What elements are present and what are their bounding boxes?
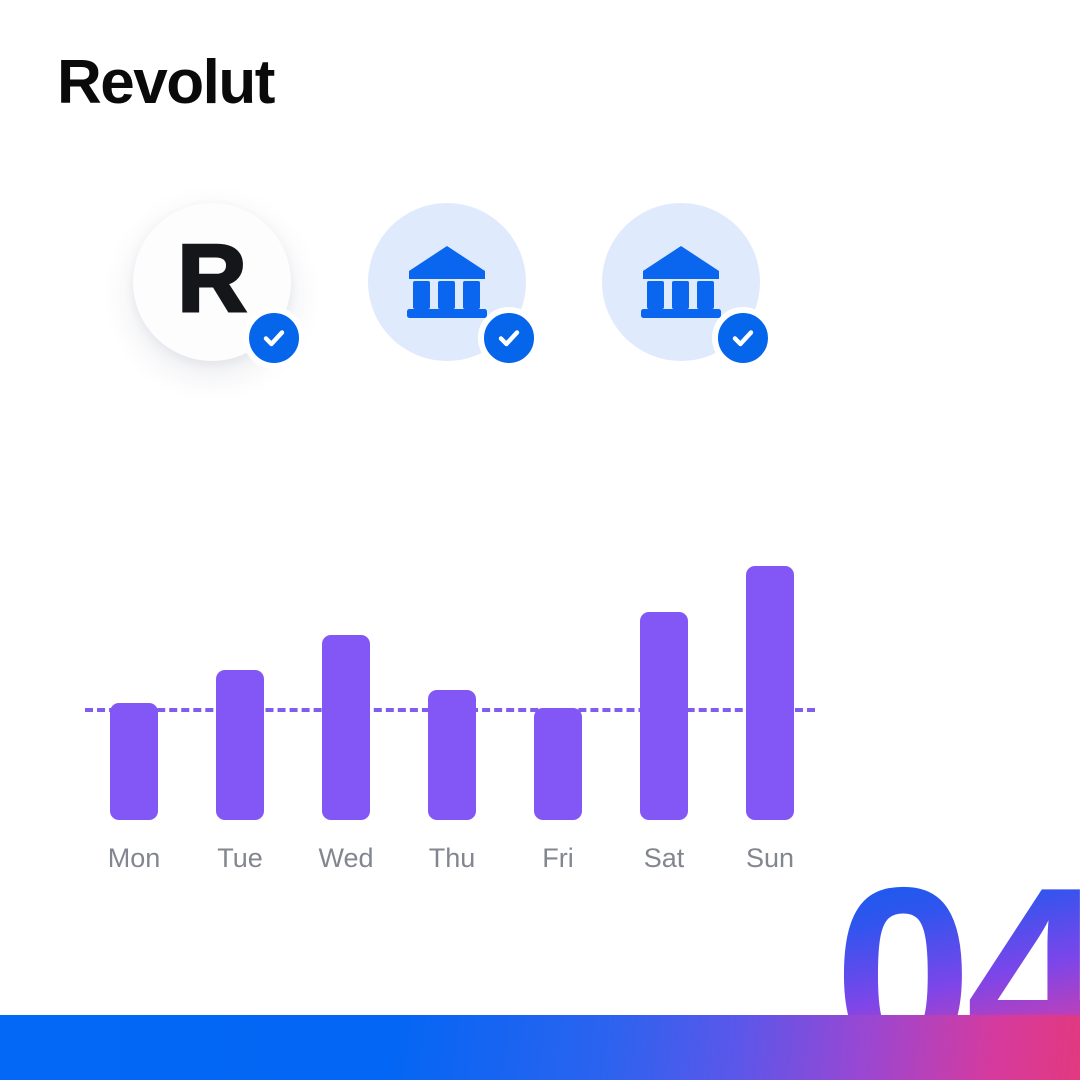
chart-axis-label: Mon	[74, 845, 194, 872]
chart-bar[interactable]	[216, 670, 264, 820]
chart-axis-label: Tue	[180, 845, 300, 872]
slide-canvas: Revolut R	[0, 0, 1080, 1080]
chart-axis-label: Sun	[710, 845, 830, 872]
chart-axis-label: Fri	[498, 845, 618, 872]
chart-bar[interactable]	[640, 612, 688, 820]
chart-axis-label: Wed	[286, 845, 406, 872]
chart-bar[interactable]	[534, 708, 582, 820]
chart-axis-label: Sat	[604, 845, 724, 872]
chart-bar[interactable]	[110, 703, 158, 820]
chart-bar[interactable]	[322, 635, 370, 820]
chart-bar[interactable]	[428, 690, 476, 820]
chart-axis-label: Thu	[392, 845, 512, 872]
chart-bar[interactable]	[746, 566, 794, 820]
footer-gradient-bar	[0, 1015, 1080, 1080]
